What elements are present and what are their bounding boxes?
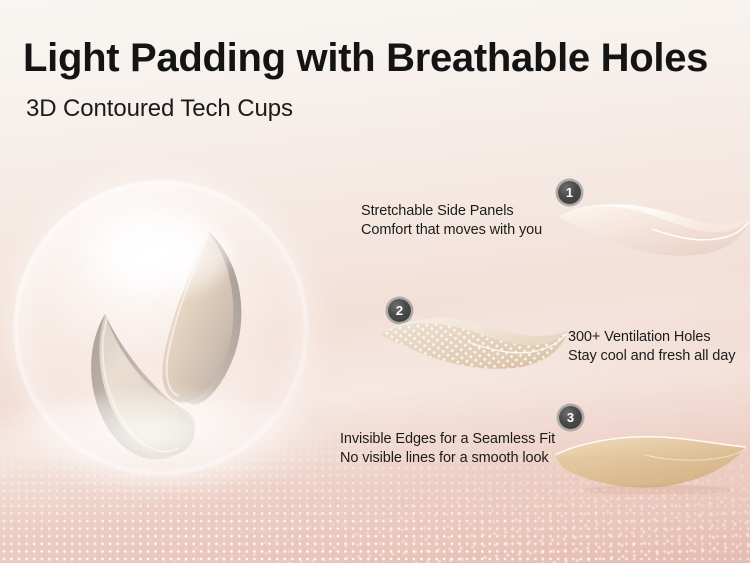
hero-sphere: [13, 180, 309, 476]
feature-1-headline: Stretchable Side Panels: [361, 202, 513, 221]
sphere-base-glow: [0, 393, 333, 494]
product-pearl-white-contour-cup: [556, 196, 750, 264]
feature-3-headline: Invisible Edges for a Seamless Fit: [340, 430, 555, 449]
product-tan-mesh-contour-cup: [549, 422, 749, 494]
feature-2-subline: Stay cool and fresh all day: [568, 347, 735, 366]
feature-3-subline: No visible lines for a smooth look: [340, 449, 549, 468]
product-infographic: Light Padding with Breathable Holes 3D C…: [0, 0, 750, 563]
page-subtitle: 3D Contoured Tech Cups: [26, 95, 293, 123]
product-perforated-beige-cup: [378, 312, 570, 374]
page-title: Light Padding with Breathable Holes: [23, 36, 708, 81]
feature-1-subline: Comfort that moves with you: [361, 221, 542, 240]
feature-2-headline: 300+ Ventilation Holes: [568, 328, 711, 347]
